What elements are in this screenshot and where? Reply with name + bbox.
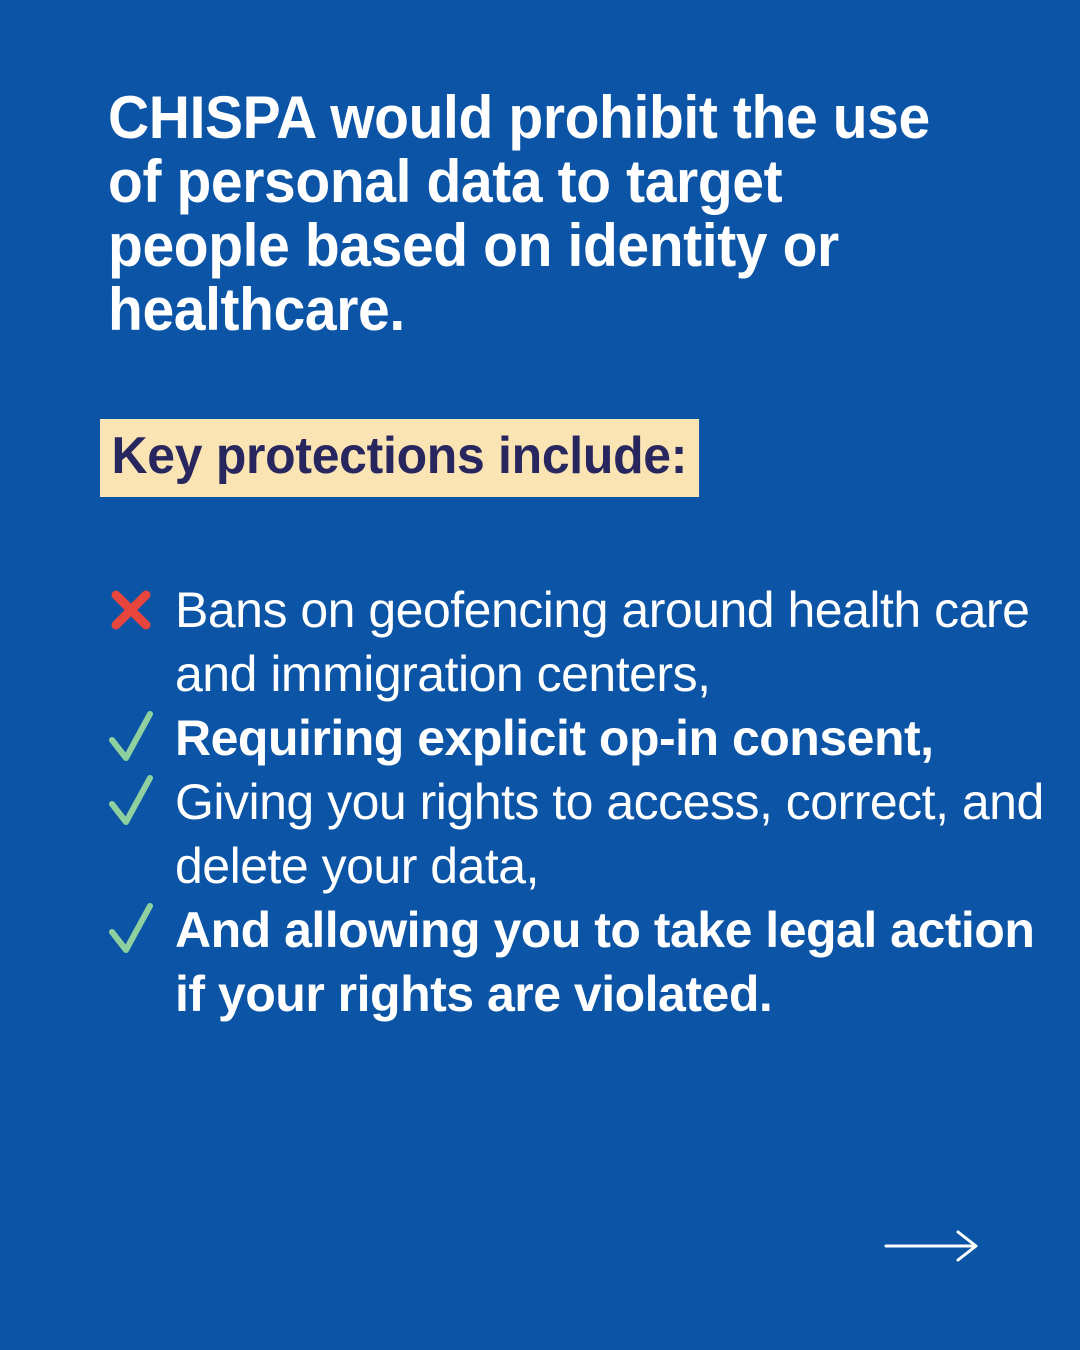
- list-item: Requiring explicit op-in consent,: [100, 706, 1060, 770]
- list-item-label: Giving you rights to access, correct, an…: [175, 770, 1060, 898]
- check-mark-icon: [100, 706, 162, 770]
- key-protections-banner: Key protections include:: [100, 419, 699, 497]
- list-item-label: And allowing you to take legal action if…: [175, 898, 1060, 1026]
- check-mark-icon: [100, 898, 162, 962]
- check-mark-icon: [100, 770, 162, 834]
- list-item: Giving you rights to access, correct, an…: [100, 770, 1060, 898]
- list-item-label: Requiring explicit op-in consent,: [175, 706, 1060, 770]
- list-item-label: Bans on geofencing around health care an…: [175, 578, 1060, 706]
- page-title: CHISPA would prohibit the use of persona…: [108, 86, 963, 342]
- protections-list: Bans on geofencing around health care an…: [100, 578, 1060, 1026]
- cross-mark-icon: [100, 578, 162, 642]
- list-item: Bans on geofencing around health care an…: [100, 578, 1060, 706]
- arrow-right-icon[interactable]: [884, 1228, 980, 1262]
- list-item: And allowing you to take legal action if…: [100, 898, 1060, 1026]
- poster-canvas: CHISPA would prohibit the use of persona…: [0, 0, 1080, 1350]
